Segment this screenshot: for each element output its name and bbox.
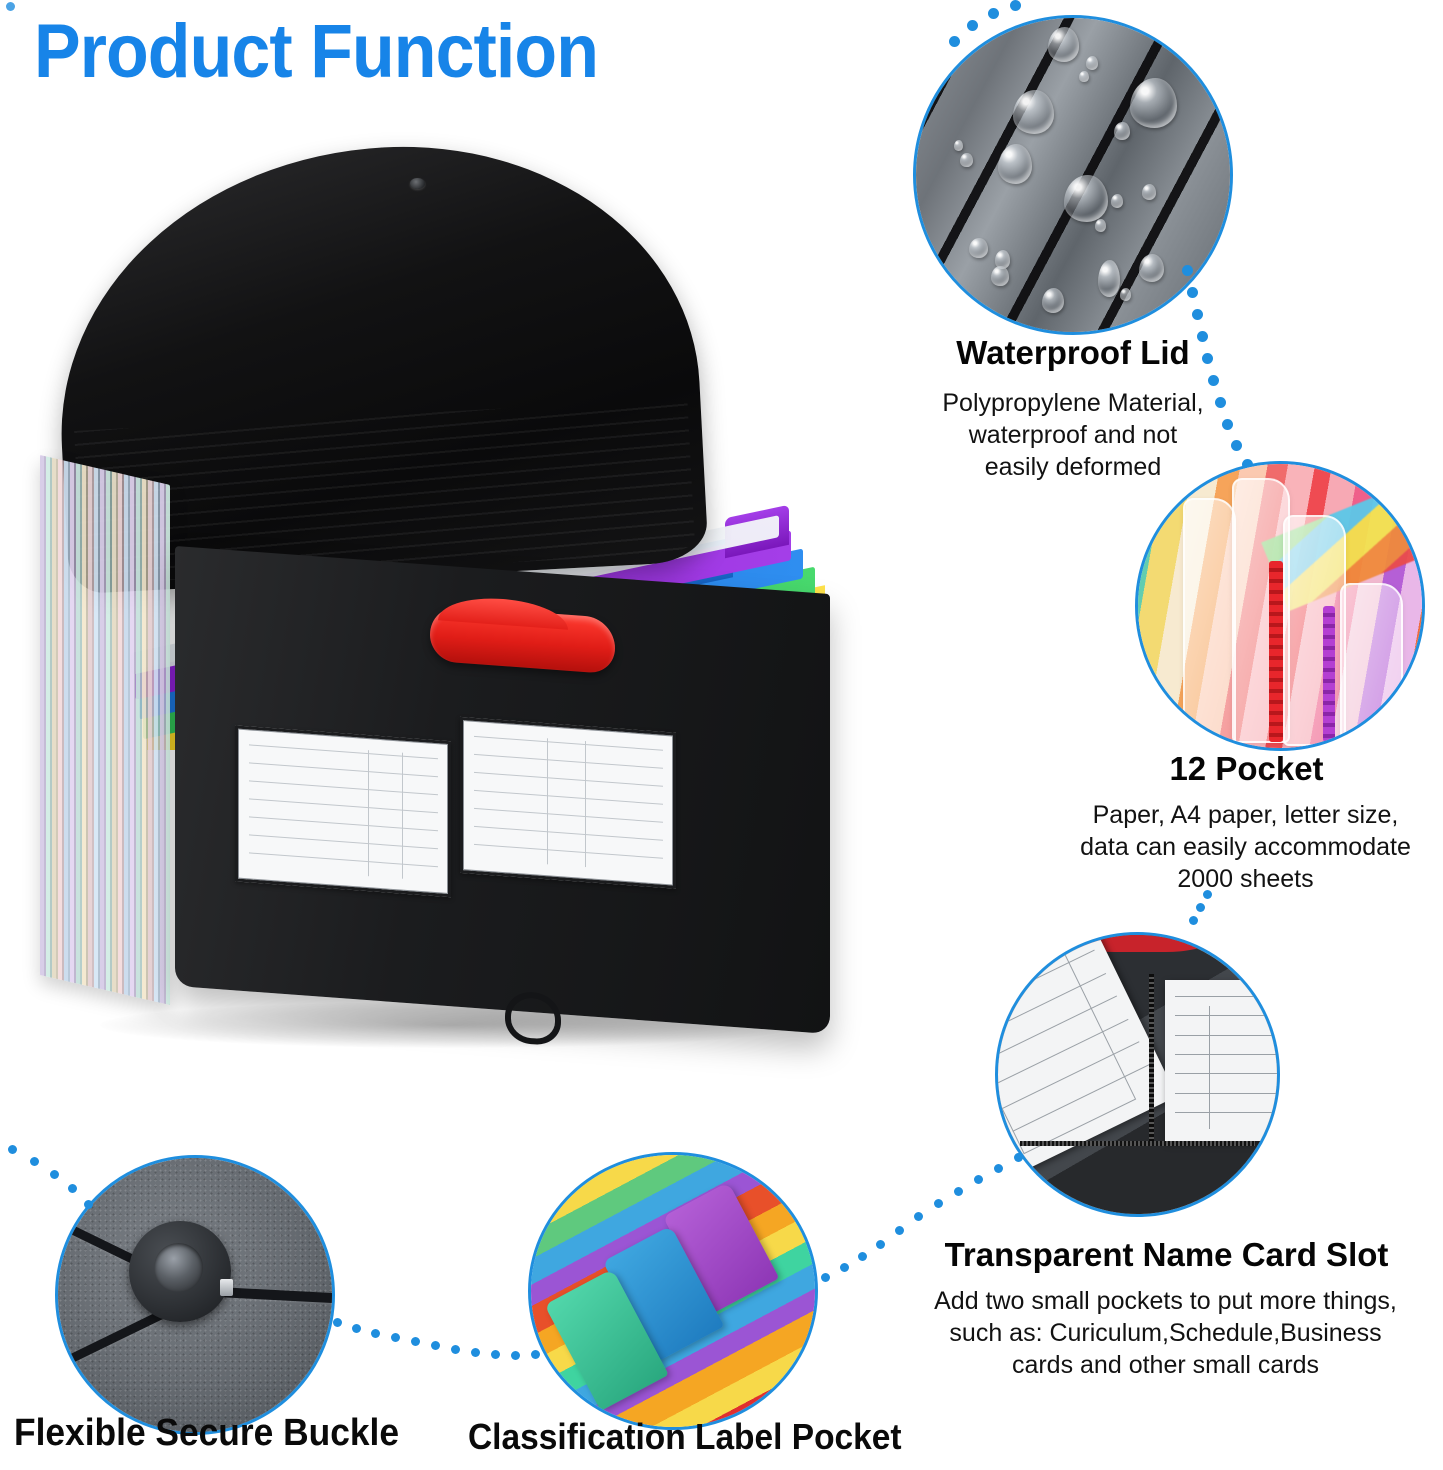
infographic-canvas: Product Function bbox=[0, 0, 1443, 1470]
connector-dot bbox=[988, 8, 999, 19]
classification-label-pocket-label: Classification Label Pocket bbox=[468, 1416, 902, 1458]
connector-dot bbox=[949, 36, 960, 47]
name-card-slot-photo-circle bbox=[995, 932, 1280, 1217]
name-card-slot-right bbox=[460, 717, 676, 889]
twelve-pocket-heading: 12 Pocket bbox=[1050, 752, 1443, 787]
connector-dot bbox=[1014, 1153, 1023, 1162]
connector-dot bbox=[914, 1212, 923, 1221]
connector-dot bbox=[1208, 375, 1219, 386]
connector-dot bbox=[333, 1318, 342, 1327]
connector-dot bbox=[1203, 890, 1212, 899]
body-line: 2000 sheets bbox=[1048, 864, 1443, 896]
connector-dot bbox=[371, 1329, 380, 1338]
connector-dot bbox=[840, 1263, 849, 1272]
connector-dot bbox=[1189, 916, 1198, 925]
waterproof-lid-heading: Waterproof Lid bbox=[913, 336, 1233, 371]
connector-dot bbox=[511, 1351, 520, 1360]
connector-dot bbox=[876, 1240, 885, 1249]
connector-dot bbox=[50, 1170, 59, 1179]
page-title: Product Function bbox=[34, 14, 598, 90]
connector-dot bbox=[84, 1200, 93, 1209]
connector-dot bbox=[451, 1345, 460, 1354]
title-accent-dot-icon bbox=[6, 2, 15, 11]
classification-label-photo-circle bbox=[528, 1152, 818, 1430]
body-line: waterproof and not bbox=[905, 420, 1241, 452]
body-line: data can easily accommodate bbox=[1048, 832, 1443, 864]
connector-dot bbox=[491, 1350, 500, 1359]
body-line: Paper, A4 paper, letter size, bbox=[1048, 800, 1443, 832]
connector-dot bbox=[8, 1145, 17, 1154]
connector-dot bbox=[858, 1252, 867, 1261]
product-front-panel bbox=[175, 546, 830, 1034]
body-line: Polypropylene Material, bbox=[905, 388, 1241, 420]
connector-dot bbox=[471, 1348, 480, 1357]
twelve-pocket-photo-circle bbox=[1135, 461, 1425, 751]
body-line: such as: Curiculum,Schedule,Business bbox=[888, 1318, 1443, 1350]
pocket-edges-color-tint bbox=[40, 455, 170, 1005]
buckle-photo-circle bbox=[55, 1155, 335, 1435]
connector-dot bbox=[1182, 265, 1193, 276]
name-card-slot-heading: Transparent Name Card Slot bbox=[890, 1238, 1443, 1273]
red-carry-handle bbox=[430, 605, 615, 675]
connector-dot bbox=[1192, 309, 1203, 320]
body-line: cards and other small cards bbox=[888, 1350, 1443, 1382]
connector-dot bbox=[974, 1175, 983, 1184]
twelve-pocket-body: Paper, A4 paper, letter size, data can e… bbox=[1048, 800, 1443, 895]
connector-dot bbox=[391, 1333, 400, 1342]
connector-dot bbox=[1187, 287, 1198, 298]
connector-dot bbox=[1196, 903, 1205, 912]
connector-dot bbox=[30, 1157, 39, 1166]
waterproof-lid-photo-circle bbox=[913, 15, 1233, 335]
connector-dot bbox=[411, 1337, 420, 1346]
connector-dot bbox=[954, 1187, 963, 1196]
flexible-secure-buckle-label: Flexible Secure Buckle bbox=[14, 1412, 399, 1455]
connector-dot bbox=[895, 1226, 904, 1235]
name-card-slot-body: Add two small pockets to put more things… bbox=[888, 1286, 1443, 1381]
connector-dot bbox=[967, 20, 978, 31]
connector-dot bbox=[934, 1199, 943, 1208]
name-card-slot-left bbox=[235, 725, 451, 897]
product-photo-expanding-file bbox=[40, 140, 860, 1070]
pocket-edges-stack bbox=[40, 455, 170, 1005]
body-line: Add two small pockets to put more things… bbox=[888, 1286, 1443, 1318]
lid-rivet-icon bbox=[410, 178, 425, 189]
connector-dot bbox=[994, 1164, 1003, 1173]
connector-dot bbox=[821, 1273, 830, 1282]
connector-dot bbox=[1010, 0, 1021, 11]
connector-dot bbox=[352, 1324, 361, 1333]
connector-dot bbox=[68, 1184, 77, 1193]
connector-dot bbox=[431, 1341, 440, 1350]
